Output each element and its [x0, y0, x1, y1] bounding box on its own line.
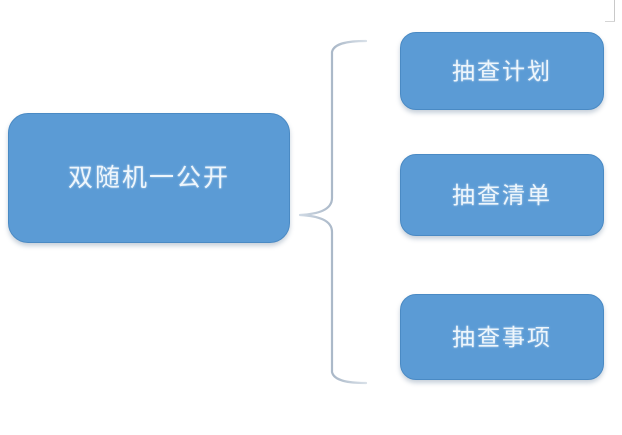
brace-path [300, 41, 366, 383]
edge-artifact-horizontal [605, 21, 615, 22]
edge-artifact-vertical [614, 0, 615, 22]
node-branch-plan-label: 抽查计划 [452, 60, 552, 83]
node-branch-list[interactable]: 抽查清单 [400, 154, 604, 236]
node-main-concept[interactable]: 双随机一公开 [8, 113, 290, 243]
diagram-canvas: 双随机一公开 抽查计划 抽查清单 抽查事项 [0, 0, 622, 435]
node-main-concept-label: 双随机一公开 [68, 166, 230, 191]
node-branch-plan[interactable]: 抽查计划 [400, 32, 604, 110]
node-branch-items[interactable]: 抽查事项 [400, 294, 604, 380]
curly-brace-connector [294, 38, 374, 386]
node-branch-list-label: 抽查清单 [452, 184, 552, 207]
node-branch-items-label: 抽查事项 [452, 326, 552, 349]
